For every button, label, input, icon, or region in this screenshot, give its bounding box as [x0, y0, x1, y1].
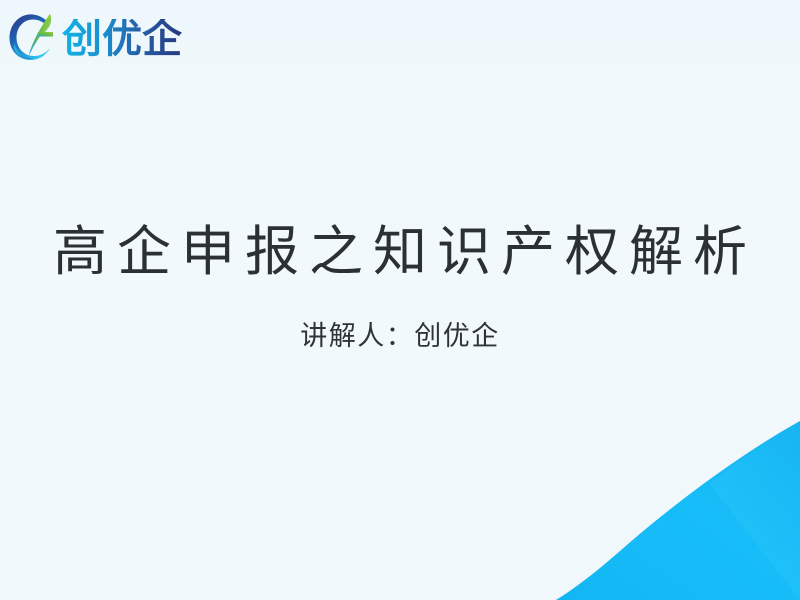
- brand-logo: 创优企: [8, 10, 188, 68]
- headline-block: 高企申报之知识产权解析 讲解人：创优企: [0, 222, 800, 353]
- brand-wordmark: 创优企: [62, 19, 182, 59]
- slide-title: 高企申报之知识产权解析: [0, 222, 800, 282]
- slide-subtitle-presenter: 讲解人：创优企: [0, 282, 800, 352]
- presentation-slide: 创优企 高企申报之知识产权解析 讲解人：创优企: [0, 0, 800, 600]
- chuangyouqi-swoosh-logo-icon: [8, 12, 60, 66]
